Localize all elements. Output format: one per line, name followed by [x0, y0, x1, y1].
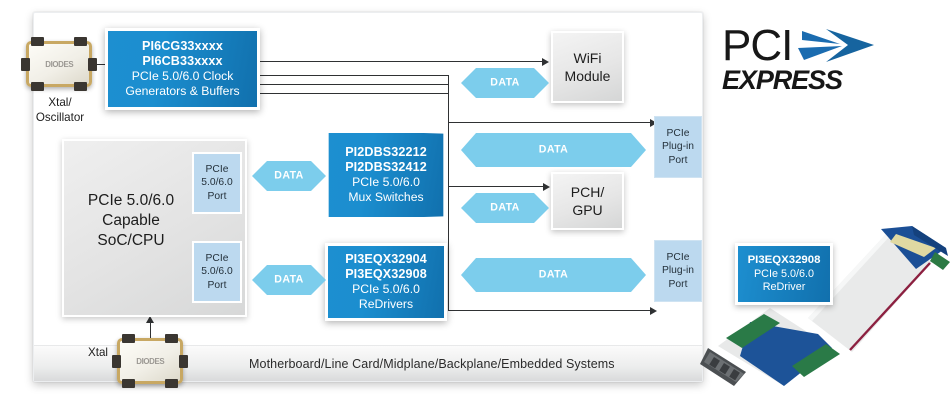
plugin-port-bottom-line-1: PCIe: [655, 251, 701, 264]
data-arrow-mux-to-wifi-label: DATA: [490, 77, 519, 89]
xtal-caption: Xtal: [62, 345, 108, 360]
clock-net-wifi: [258, 61, 544, 62]
redriver-part-1: PI3EQX32904: [328, 252, 444, 267]
pci-express-logo: PCI EXPRESS: [722, 26, 882, 94]
plugin-port-top-line-2: Plug-in: [655, 140, 701, 153]
block-pch-gpu[interactable]: PCH/ GPU: [551, 172, 624, 230]
soc-pcie-port-bottom-line-1: PCIe: [194, 252, 240, 265]
redriver-desc-2: ReDrivers: [328, 297, 444, 312]
soc-cpu-line-1: PCIe 5.0/6.0: [70, 191, 192, 211]
soc-cpu-label: PCIe 5.0/6.0 Capable SoC/CPU: [70, 191, 192, 251]
block-pcie-plugin-port-bottom[interactable]: PCIe Plug-in Port: [654, 240, 702, 302]
clock-net-pch: [448, 186, 545, 187]
data-arrow-mux-to-plugin-top-label: DATA: [539, 144, 568, 156]
redriver-part-2: PI3EQX32908: [328, 267, 444, 282]
block-wifi-module[interactable]: WiFi Module: [551, 31, 624, 103]
clock-net-bus-3: [258, 93, 448, 94]
block-soc-cpu[interactable]: PCIe 5.0/6.0 Capable SoC/CPU PCIe 5.0/6.…: [62, 139, 247, 317]
clock-net-trunk: [448, 75, 449, 311]
block-clock-generator[interactable]: PI6CG33xxxx PI6CB33xxxx PCIe 5.0/6.0 Clo…: [105, 28, 260, 110]
xtal-soc-net-arrowhead: [146, 316, 154, 323]
data-arrow-redriver-to-plugin-bottom: DATA: [476, 258, 631, 292]
pch-gpu-label: PCH/ GPU: [571, 183, 604, 219]
xtal-oscillator-caption-line-1: Xtal/: [14, 95, 106, 110]
board-caption: Motherboard/Line Card/Midplane/Backplane…: [249, 357, 615, 371]
clock-net-plugin-bottom-arrowhead: [650, 307, 657, 315]
wifi-module-line-1: WiFi: [565, 49, 611, 67]
data-arrow-mux-to-pch: DATA: [476, 193, 534, 223]
xtal-oscillator-package: DIODES: [26, 41, 92, 87]
data-arrow-soc-to-redriver: DATA: [267, 265, 311, 295]
mux-switch-part-2: PI2DBS32412: [328, 160, 444, 175]
xtal-oscillator-caption-line-2: Oscillator: [14, 110, 106, 125]
pci-express-logo-top: PCI: [722, 26, 882, 66]
soc-pcie-port-bottom-line-2: 5.0/6.0: [194, 265, 240, 278]
soc-pcie-port-top[interactable]: PCIe 5.0/6.0 Port: [192, 152, 242, 214]
plugin-port-top-line-3: Port: [655, 154, 701, 167]
xtal-oscillator-brand-mark: DIODES: [45, 59, 73, 69]
plugin-port-top-line-1: PCIe: [655, 127, 701, 140]
mux-switch-part-1: PI2DBS32212: [328, 145, 444, 160]
data-arrow-mux-to-pch-label: DATA: [490, 202, 519, 214]
data-arrow-mux-to-plugin-top: DATA: [476, 133, 631, 167]
pch-gpu-line-2: GPU: [571, 201, 604, 219]
clock-generator-desc-2: Generators & Buffers: [108, 84, 257, 99]
clock-net-bus-2: [258, 84, 448, 85]
wifi-module-label: WiFi Module: [565, 49, 611, 85]
wifi-module-line-2: Module: [565, 67, 611, 85]
pch-gpu-line-1: PCH/: [571, 183, 604, 201]
diagram-canvas: Motherboard/Line Card/Midplane/Backplane…: [0, 0, 950, 416]
soc-cpu-line-2: Capable: [70, 211, 192, 231]
mux-switch-desc-1: PCIe 5.0/6.0: [328, 175, 444, 190]
clock-net-pch-arrowhead: [543, 183, 550, 191]
riser-product-desc-1: PCIe 5.0/6.0: [738, 268, 830, 281]
block-pcie-plugin-port-top[interactable]: PCIe Plug-in Port: [654, 116, 702, 178]
pci-express-logo-express-text: EXPRESS: [722, 67, 882, 94]
soc-pcie-port-bottom-line-3: Port: [194, 279, 240, 292]
pci-express-chevron-icon: [796, 27, 876, 65]
soc-pcie-port-top-line-3: Port: [194, 190, 240, 203]
pci-express-logo-pci-text: PCI: [722, 27, 792, 64]
redriver-desc-1: PCIe 5.0/6.0: [328, 282, 444, 297]
data-arrow-mux-to-wifi: DATA: [476, 68, 534, 98]
clock-net-plugin-bottom: [448, 310, 652, 311]
clock-net-bus-1: [258, 75, 448, 76]
data-arrow-redriver-to-plugin-bottom-label: DATA: [539, 269, 568, 281]
soc-pcie-port-top-line-2: 5.0/6.0: [194, 176, 240, 189]
riser-product-desc-2: ReDriver: [738, 281, 830, 294]
soc-pcie-port-top-line-1: PCIe: [194, 163, 240, 176]
plugin-port-bottom-line-3: Port: [655, 278, 701, 291]
clock-generator-desc-1: PCIe 5.0/6.0 Clock: [108, 69, 257, 84]
xtal-brand-mark: DIODES: [136, 356, 164, 366]
clock-generator-part-1: PI6CG33xxxx: [108, 39, 257, 54]
soc-pcie-port-bottom[interactable]: PCIe 5.0/6.0 Port: [192, 241, 242, 303]
soc-cpu-line-3: SoC/CPU: [70, 231, 192, 251]
data-arrow-soc-to-redriver-label: DATA: [274, 274, 303, 286]
xtal-package: DIODES: [117, 338, 183, 384]
data-arrow-soc-to-mux-label: DATA: [274, 170, 303, 182]
riser-product-label: PI3EQX32908 PCIe 5.0/6.0 ReDriver: [735, 243, 833, 305]
clock-generator-part-2: PI6CB33xxxx: [108, 54, 257, 69]
clock-net-wifi-arrowhead: [542, 58, 549, 66]
block-mux-switch[interactable]: PI2DBS32212 PI2DBS32412 PCIe 5.0/6.0 Mux…: [325, 130, 447, 220]
mux-switch-desc-2: Mux Switches: [328, 190, 444, 205]
riser-product-part: PI3EQX32908: [738, 253, 830, 267]
xtal-oscillator-caption: Xtal/ Oscillator: [14, 95, 106, 125]
data-arrow-soc-to-mux: DATA: [267, 161, 311, 191]
block-redriver[interactable]: PI3EQX32904 PI3EQX32908 PCIe 5.0/6.0 ReD…: [325, 243, 447, 321]
clock-net-plugin-top: [448, 122, 652, 123]
plugin-port-bottom-line-2: Plug-in: [655, 264, 701, 277]
